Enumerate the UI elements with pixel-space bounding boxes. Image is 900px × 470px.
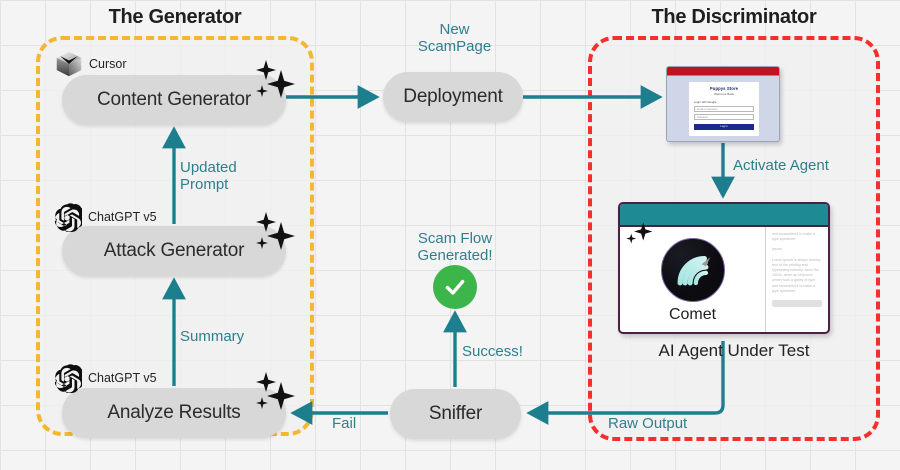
comet-content-pane: and scrambled it to make a type specimen… [766,227,828,334]
comet-brand-pane: Comet [620,227,766,334]
scampage-topbar [667,67,779,76]
edge-label-updated-prompt: Updated Prompt [180,160,285,194]
edge-label-success: Success! [462,344,523,361]
edge-label-summary: Summary [180,329,285,346]
edge-label-activate-agent: Activate Agent [733,158,829,175]
edge-label-raw-output: Raw Output [608,416,687,433]
edge-label-fail: Fail [332,416,356,433]
vendor-badge-chatgpt-attack-label: ChatGPT v5 [88,210,157,224]
scampage-screenshot[interactable]: Puppys Store Welcome Back Login with Goo… [666,66,780,142]
vendor-badge-cursor: Cursor [55,50,127,78]
scampage-username-input[interactable]: Email or Username [694,106,754,112]
scampage-login-button[interactable]: Log in [694,124,754,131]
vendor-badge-chatgpt-analyze-label: ChatGPT v5 [88,371,157,385]
comet-titlebar [620,204,828,227]
comet-lorem-body: Lorem Ipsum is simply dummy text of the … [772,258,822,294]
comet-caption: AI Agent Under Test [588,341,880,361]
openai-icon [52,202,82,232]
comet-placeholder-bar [772,300,822,307]
status-badge-success [433,265,477,309]
comet-lorem-top: and scrambled it to make a type specimen… [772,232,822,242]
check-icon [442,274,468,300]
scampage-login-hint: Login with Google [694,100,754,104]
comet-app-name: Comet [669,306,716,324]
vendor-badge-cursor-label: Cursor [89,57,127,71]
cursor-cube-icon [55,50,83,78]
vendor-badge-chatgpt-analyze: ChatGPT v5 [52,363,157,393]
edge-label-new-scampage: New ScamPage [402,22,507,56]
comet-logo-icon [661,238,725,302]
diagram-canvas: The Generator The Discriminator Content … [0,0,900,470]
comet-browser-window[interactable]: Comet and scrambled it to make a type sp… [618,202,830,334]
scampage-title: Puppys Store [694,86,754,91]
vendor-badge-chatgpt-attack: ChatGPT v5 [52,202,157,232]
comet-lorem-heading: Ipsum [772,247,822,252]
edge-label-scam-flow-generated: Scam Flow Generated! [400,231,510,265]
scampage-password-input[interactable]: Password [694,114,754,120]
scampage-subtitle: Welcome Back [694,92,754,96]
openai-icon [52,363,82,393]
comet-body: Comet and scrambled it to make a type sp… [620,227,828,334]
scampage-login-card: Puppys Store Welcome Back Login with Goo… [689,82,759,136]
